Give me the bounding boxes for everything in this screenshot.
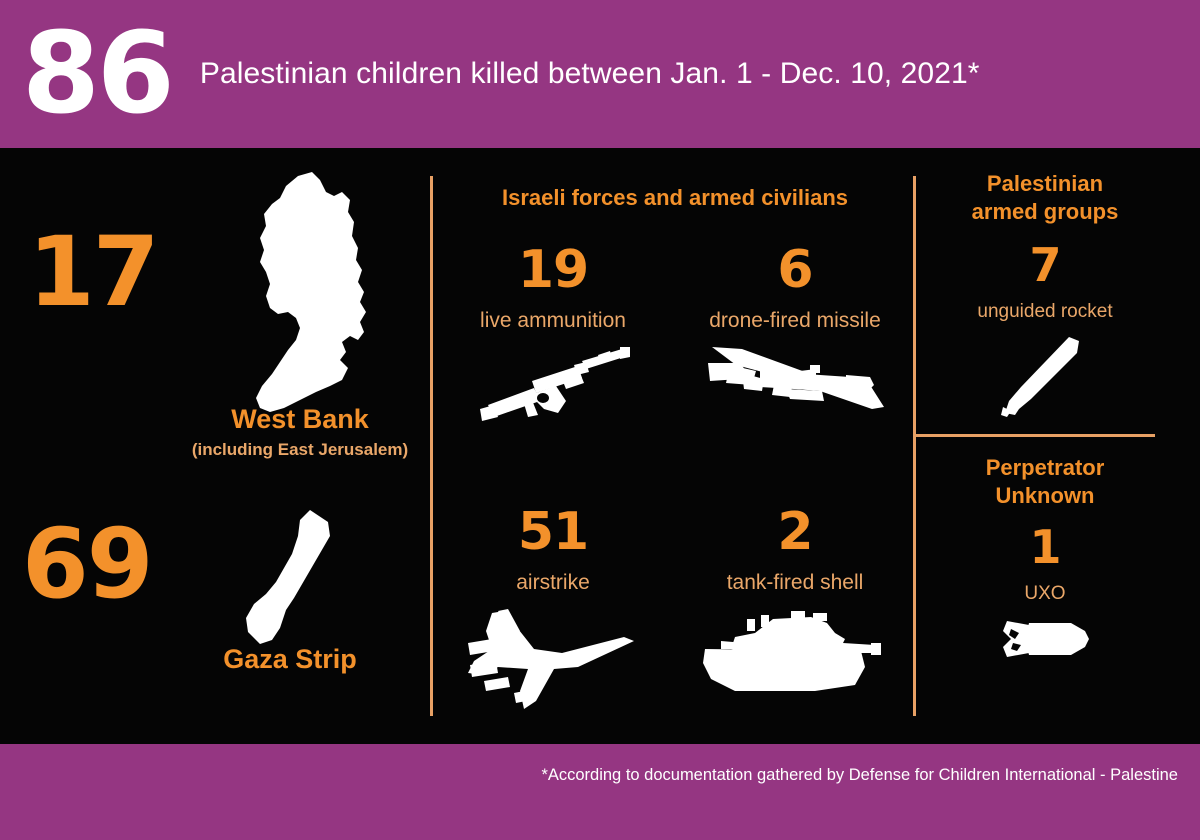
bomb-icon-wrap	[925, 615, 1165, 665]
drone-icon	[700, 343, 890, 423]
bomb-icon	[985, 615, 1105, 665]
live-ammunition-label: live ammunition	[438, 309, 668, 333]
uxo-count: 1	[925, 524, 1165, 570]
column-title-israeli-forces: Israeli forces and armed civilians	[460, 184, 890, 212]
fighter-jet-icon	[458, 605, 648, 713]
palestinian-groups-title-line2: armed groups	[925, 198, 1165, 226]
west-bank-count: 17	[28, 224, 158, 320]
footer-banner: *According to documentation gathered by …	[0, 744, 1200, 840]
gaza-strip-label: Gaza Strip	[140, 644, 440, 675]
tank-shell-count: 2	[680, 506, 910, 558]
drone-missile-label: drone-fired missile	[680, 309, 910, 333]
unguided-rocket-label: unguided rocket	[925, 301, 1165, 323]
airstrike-label: airstrike	[438, 571, 668, 595]
perpetrator-unknown-title-line1: Perpetrator	[925, 454, 1165, 482]
airstrike-count: 51	[438, 506, 668, 558]
cell-airstrike: 51 airstrike	[438, 506, 668, 713]
cell-tank-fired-shell: 2 tank-fired shell	[680, 506, 910, 705]
west-bank-label: West Bank	[150, 404, 450, 435]
source-note: *According to documentation gathered by …	[541, 766, 1178, 785]
header-banner: 86 Palestinian children killed between J…	[0, 0, 1200, 148]
divider-right-horizontal	[913, 434, 1155, 437]
palestinian-groups-title-line1: Palestinian	[925, 170, 1165, 198]
tank-icon	[695, 605, 895, 705]
drone-missile-count: 6	[680, 244, 910, 296]
uxo-label: UXO	[925, 583, 1165, 605]
cell-drone-fired-missile: 6 drone-fired missile	[680, 244, 910, 423]
cell-uxo: 1 UXO	[925, 524, 1165, 665]
rifle-icon-wrap	[438, 343, 668, 423]
fighter-jet-icon-wrap	[438, 605, 668, 713]
gaza-strip-count: 69	[22, 516, 152, 612]
rocket-icon-wrap	[925, 333, 1165, 419]
live-ammunition-count: 19	[438, 244, 668, 296]
total-count: 86	[22, 18, 172, 130]
drone-icon-wrap	[680, 343, 910, 423]
divider-right-vertical	[913, 176, 916, 716]
body-area: 17 West Bank (including East Jerusalem) …	[0, 148, 1200, 744]
rifle-icon	[470, 343, 636, 423]
infographic-poster: 86 Palestinian children killed between J…	[0, 0, 1200, 840]
cell-unguided-rocket: 7 unguided rocket	[925, 242, 1165, 419]
unguided-rocket-count: 7	[925, 242, 1165, 288]
tank-shell-label: tank-fired shell	[680, 571, 910, 595]
cell-live-ammunition: 19 live ammunition	[438, 244, 668, 423]
column-title-palestinian-groups: Palestinian armed groups	[925, 170, 1165, 226]
column-title-perpetrator-unknown: Perpetrator Unknown	[925, 454, 1165, 510]
page-title: Palestinian children killed between Jan.…	[200, 57, 980, 91]
perpetrator-unknown-title-line2: Unknown	[925, 482, 1165, 510]
west-bank-sublabel: (including East Jerusalem)	[150, 440, 450, 460]
gaza-strip-map-icon	[232, 506, 342, 656]
tank-icon-wrap	[680, 605, 910, 705]
rocket-icon	[985, 333, 1105, 419]
west-bank-map-icon	[238, 170, 378, 418]
